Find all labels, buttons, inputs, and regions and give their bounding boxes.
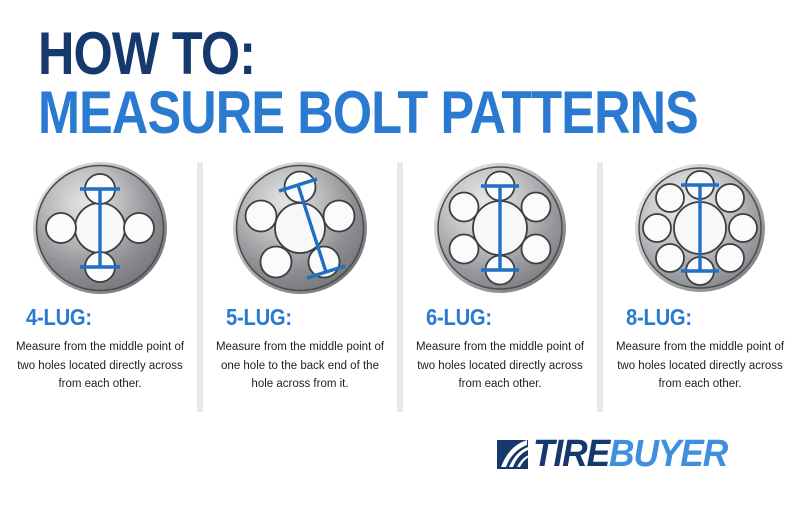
lug-column-4: 4-LUG: Measure from the middle point of … bbox=[0, 160, 200, 420]
lug-label-8: 8-LUG: bbox=[626, 304, 692, 331]
lug-column-8: 8-LUG: Measure from the middle point of … bbox=[600, 160, 800, 420]
logo-text-buyer: BUYER bbox=[609, 433, 727, 475]
lug-columns: 4-LUG: Measure from the middle point of … bbox=[0, 160, 800, 420]
tirebuyer-swoosh-icon bbox=[497, 438, 530, 471]
infographic-poster: HOW TO: MEASURE BOLT PATTERNS bbox=[0, 0, 800, 531]
lug-column-5: 5-LUG: Measure from the middle point of … bbox=[200, 160, 400, 420]
6-lug-hub-icon bbox=[425, 160, 575, 296]
4-lug-hub-icon bbox=[25, 160, 175, 296]
title-line-how-to: HOW TO: bbox=[38, 26, 626, 81]
lug-description-6: Measure from the middle point of two hol… bbox=[414, 338, 586, 394]
5-lug-hub-icon bbox=[225, 160, 375, 296]
poster-title: HOW TO: MEASURE BOLT PATTERNS bbox=[38, 26, 738, 140]
tirebuyer-logo: TIREBUYER bbox=[497, 434, 742, 474]
tirebuyer-wordmark: TIREBUYER bbox=[533, 435, 727, 473]
lug-description-4: Measure from the middle point of two hol… bbox=[14, 338, 186, 394]
lug-description-8: Measure from the middle point of two hol… bbox=[614, 338, 786, 394]
lug-label-4: 4-LUG: bbox=[26, 304, 92, 331]
lug-column-6: 6-LUG: Measure from the middle point of … bbox=[400, 160, 600, 420]
logo-text-tire: TIRE bbox=[533, 433, 609, 475]
8-lug-hub-icon bbox=[625, 160, 775, 296]
lug-label-5: 5-LUG: bbox=[226, 304, 292, 331]
lug-description-5: Measure from the middle point of one hol… bbox=[214, 338, 386, 394]
title-line-measure-bolt-patterns: MEASURE BOLT PATTERNS bbox=[38, 85, 626, 140]
lug-label-6: 6-LUG: bbox=[426, 304, 492, 331]
